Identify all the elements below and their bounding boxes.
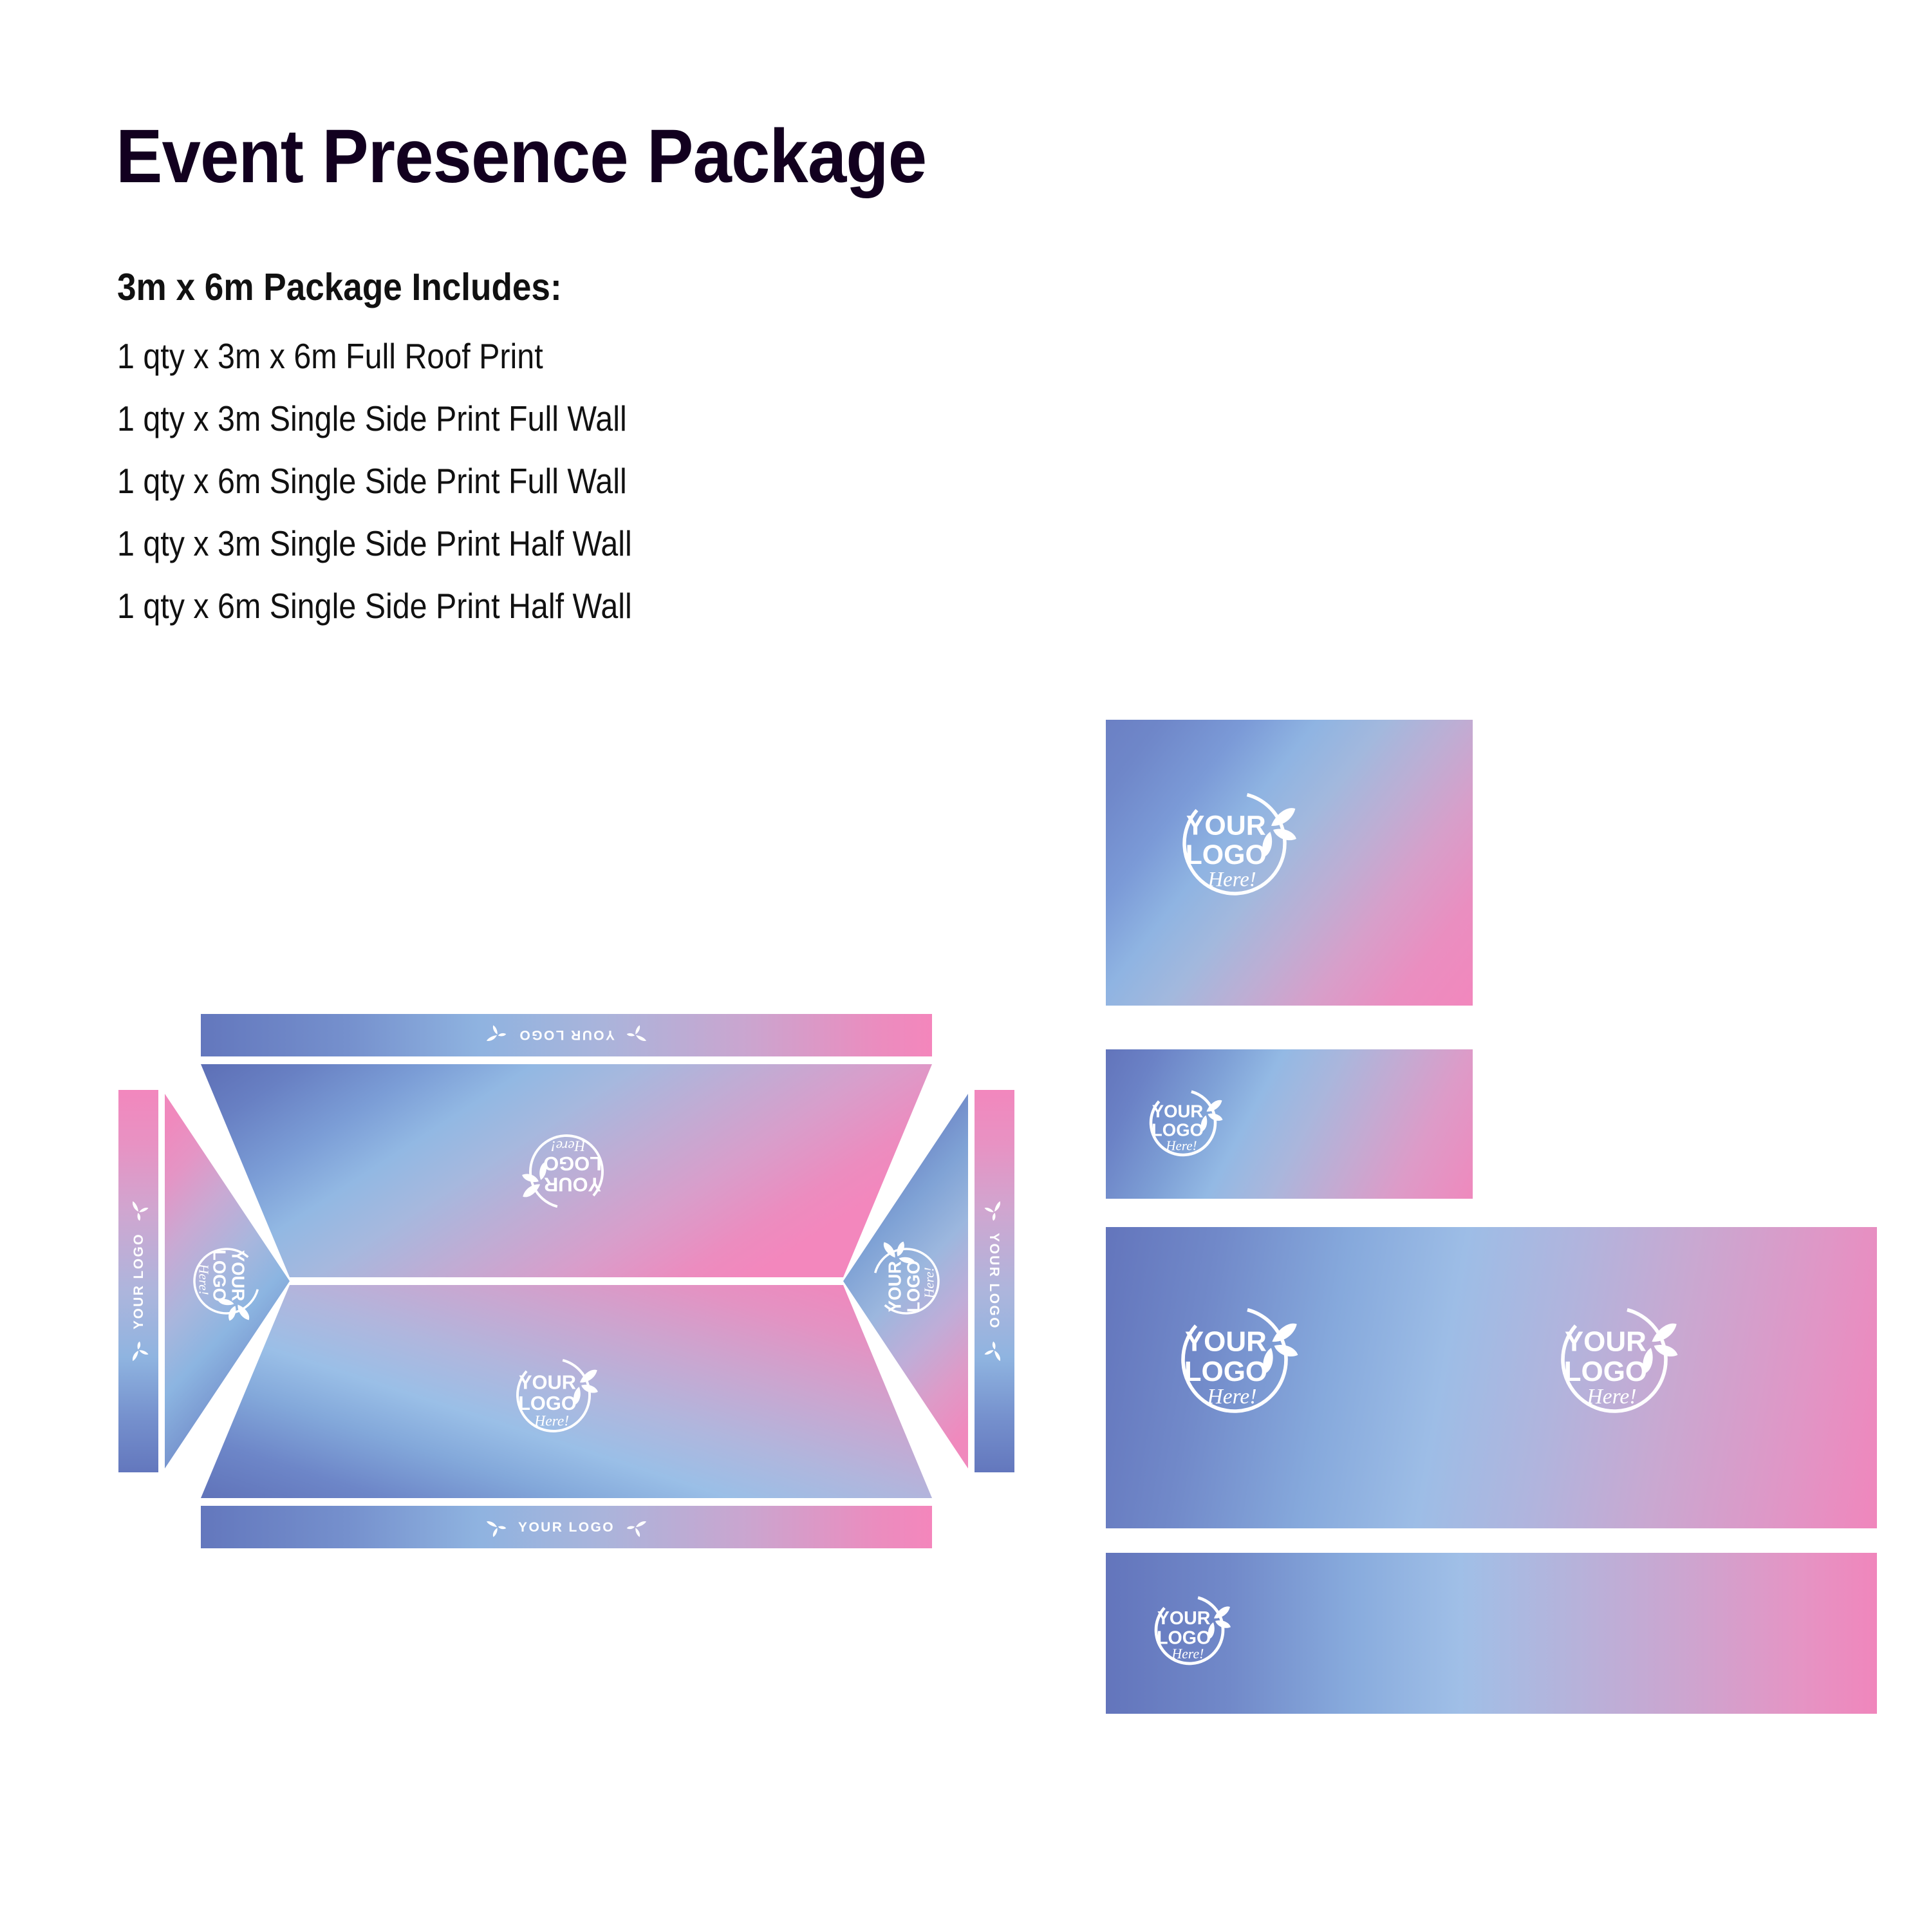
svg-text:LOGO: LOGO <box>1184 1356 1268 1387</box>
list-item: 1 qty x 3m Single Side Print Half Wall <box>117 512 797 575</box>
svg-text:LOGO: LOGO <box>1564 1356 1648 1387</box>
svg-text:YOUR: YOUR <box>1565 1326 1646 1357</box>
logo-mark: YOUR LOGO Here! <box>1162 1287 1307 1432</box>
poster-canvas: Event Presence Package 3m x 6m Package I… <box>0 0 1931 1932</box>
svg-text:YOUR: YOUR <box>1152 1102 1204 1121</box>
svg-text:Here!: Here! <box>534 1413 569 1430</box>
svg-text:YOUR: YOUR <box>885 1261 905 1313</box>
svg-text:Here!: Here! <box>1171 1646 1204 1662</box>
valance-label: YOUR LOGO <box>131 1233 146 1329</box>
svg-text:LOGO: LOGO <box>518 1392 577 1414</box>
valance-label: YOUR LOGO <box>987 1233 1002 1329</box>
panel-6m-half-wall: YOUR LOGO Here! <box>1106 1553 1877 1714</box>
valance-left: YOUR LOGO <box>118 1090 158 1472</box>
svg-text:Here!: Here! <box>1165 1138 1197 1154</box>
svg-text:LOGO: LOGO <box>210 1250 230 1302</box>
logo-mark: YOUR LOGO Here! <box>1542 1287 1687 1432</box>
list-item: 1 qty x 6m Single Side Print Half Wall <box>117 575 797 637</box>
panel-6m-full-wall: YOUR LOGO Here! YOUR LOGO Here! <box>1106 1227 1877 1528</box>
svg-text:YOUR: YOUR <box>1157 1608 1211 1629</box>
roof-panel-top: YOUR LOGO Here! <box>201 1064 932 1277</box>
svg-text:YOUR: YOUR <box>519 1371 576 1393</box>
svg-text:YOUR: YOUR <box>1185 1326 1267 1357</box>
logo-mark: YOUR LOGO Here! <box>1106 1553 1877 1714</box>
svg-text:LOGO: LOGO <box>1157 1627 1211 1648</box>
roof-panel-bottom: YOUR LOGO Here! <box>201 1285 932 1498</box>
svg-text:LOGO: LOGO <box>1186 839 1267 870</box>
svg-text:Here!: Here! <box>196 1263 212 1295</box>
logo-mark: YOUR LOGO Here! <box>1106 1049 1473 1199</box>
svg-text:Here!: Here! <box>1208 868 1256 891</box>
logo-mark: YOUR LOGO Here! <box>1106 720 1473 1006</box>
valance-bottom: YOUR LOGO <box>201 1506 932 1548</box>
svg-text:Here!: Here! <box>1206 1385 1256 1409</box>
panel-3m-half-wall: YOUR LOGO Here! <box>1106 1049 1473 1199</box>
includes-list: 1 qty x 3m x 6m Full Roof Print 1 qty x … <box>117 325 890 637</box>
svg-text:LOGO: LOGO <box>904 1261 924 1313</box>
includes-heading: 3m x 6m Package Includes: <box>117 265 562 309</box>
list-item: 1 qty x 6m Single Side Print Full Wall <box>117 450 797 512</box>
valance-label: YOUR LOGO <box>518 1027 615 1042</box>
canopy-flat-plan-diagram: YOUR LOGO YOUR LOGO <box>103 1014 1030 1548</box>
svg-text:Here!: Here! <box>1586 1385 1636 1409</box>
svg-text:Here!: Here! <box>551 1137 586 1154</box>
svg-text:YOUR: YOUR <box>229 1250 248 1302</box>
svg-text:Here!: Here! <box>922 1267 937 1299</box>
svg-text:LOGO: LOGO <box>543 1152 602 1175</box>
valance-top: YOUR LOGO <box>201 1014 932 1056</box>
svg-text:LOGO: LOGO <box>1152 1120 1204 1140</box>
page-title: Event Presence Package <box>116 113 926 200</box>
valance-right: YOUR LOGO <box>975 1090 1014 1472</box>
panel-3m-full-wall: YOUR LOGO Here! <box>1106 720 1473 1006</box>
valance-label: YOUR LOGO <box>518 1520 615 1535</box>
svg-text:YOUR: YOUR <box>544 1174 601 1196</box>
list-item: 1 qty x 3m Single Side Print Full Wall <box>117 388 797 450</box>
svg-text:YOUR: YOUR <box>1186 811 1266 841</box>
list-item: 1 qty x 3m x 6m Full Roof Print <box>117 325 797 388</box>
